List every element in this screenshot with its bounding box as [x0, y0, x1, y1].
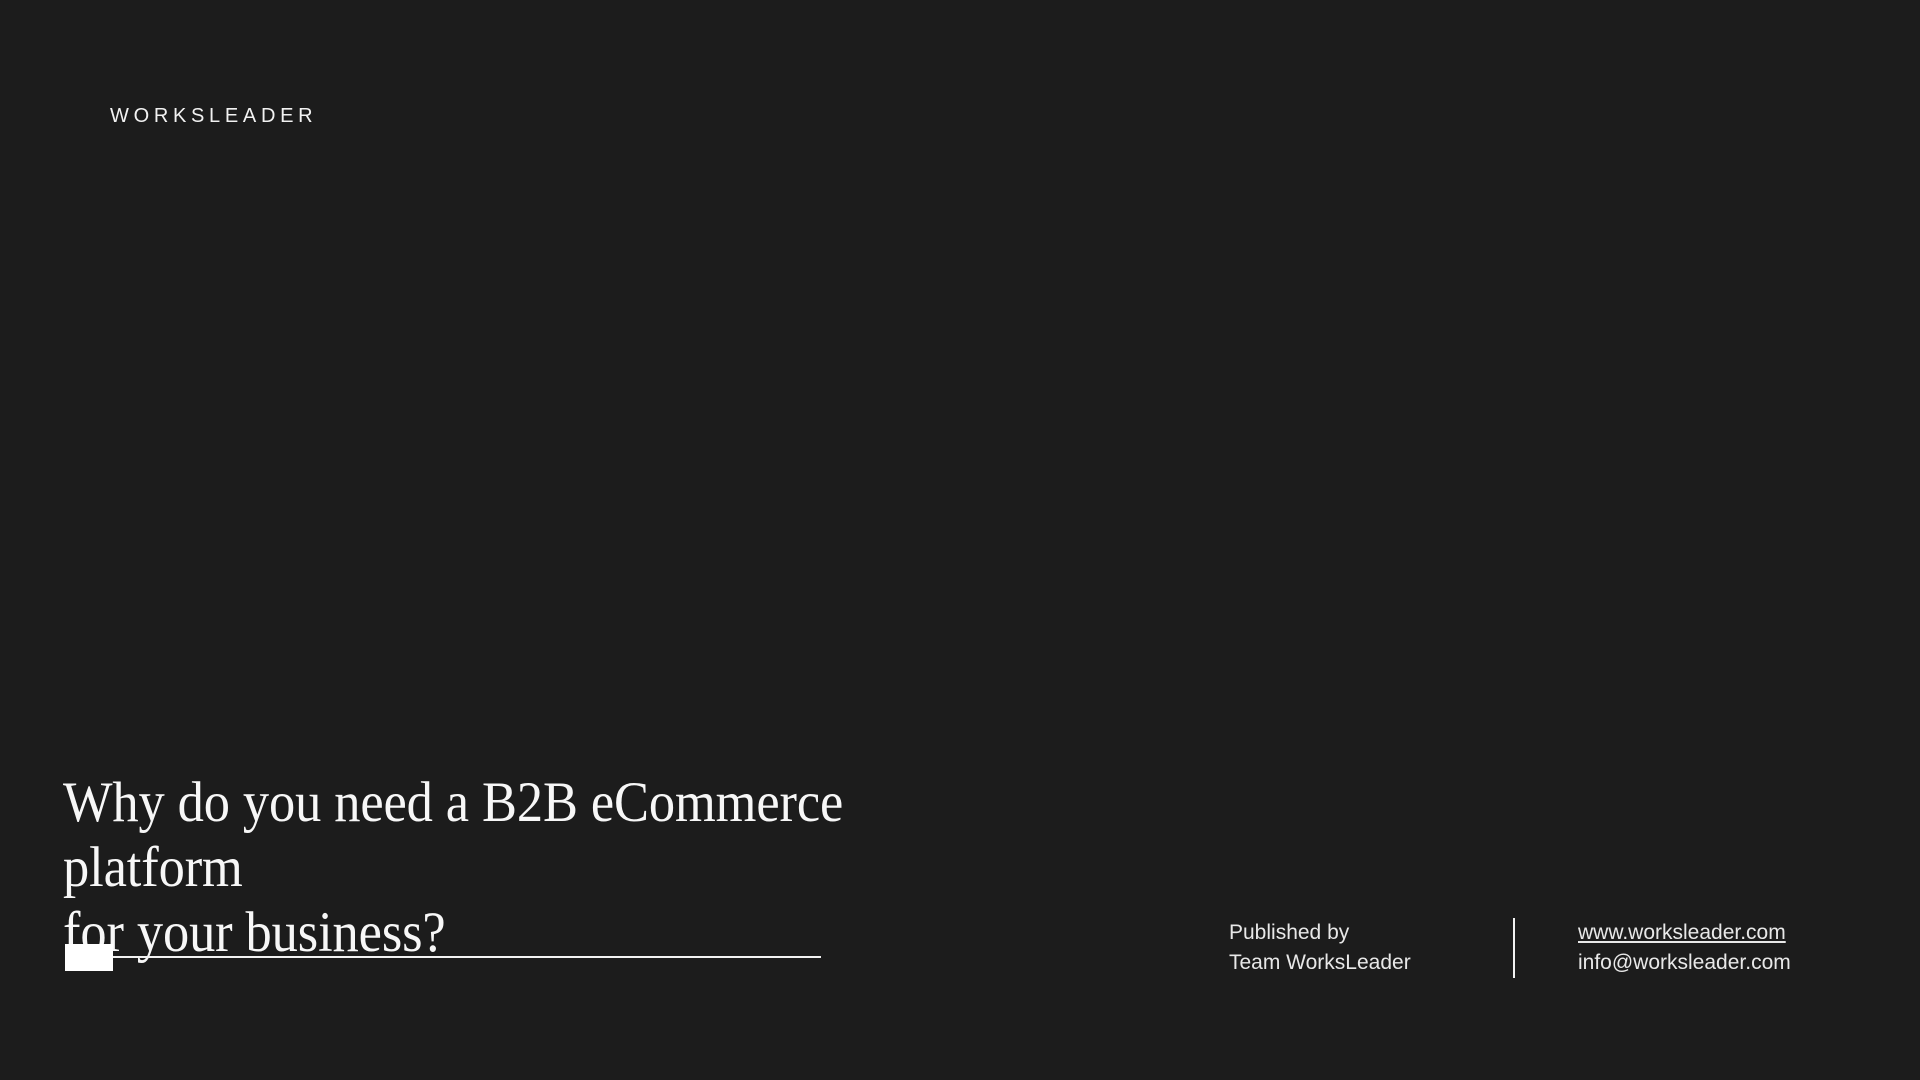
- contact-block: www.worksleader.com info@worksleader.com: [1578, 918, 1791, 978]
- progress-fill: [65, 944, 113, 971]
- publisher-name: Team WorksLeader: [1229, 948, 1513, 978]
- website-link[interactable]: www.worksleader.com: [1578, 918, 1791, 948]
- footer-divider: [1513, 918, 1515, 978]
- progress-track: [65, 956, 821, 958]
- publisher-block: Published by Team WorksLeader: [1229, 918, 1513, 978]
- publisher-label: Published by: [1229, 918, 1513, 948]
- page-title: Why do you need a B2B eCommerce platform…: [63, 770, 983, 965]
- footer: Published by Team WorksLeader www.worksl…: [1229, 918, 1791, 978]
- slide-canvas: WORKSLEADER Why do you need a B2B eComme…: [0, 0, 1920, 1080]
- brand-logo: WORKSLEADER: [110, 106, 317, 126]
- email-address[interactable]: info@worksleader.com: [1578, 948, 1791, 978]
- progress-bar[interactable]: [65, 944, 821, 971]
